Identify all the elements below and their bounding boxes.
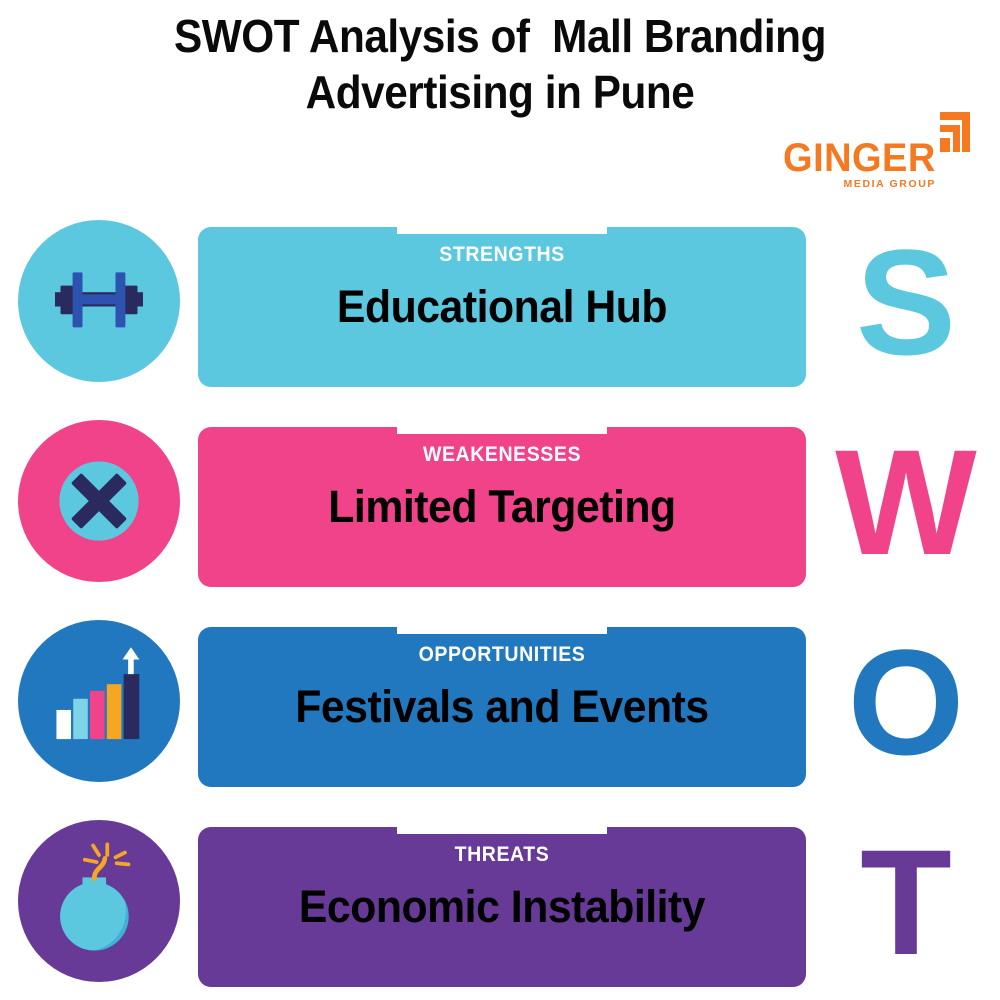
swot-row-strengths: STRENGTHS Educational Hub S [0, 212, 1000, 392]
swot-kicker-opportunities: OPPORTUNITIES [219, 643, 784, 667]
page-title-line-1: SWOT Analysis of Mall Branding [40, 8, 960, 64]
swot-letter-w: W [826, 412, 986, 592]
swot-kicker-weakenesses: WEAKENESSES [219, 443, 784, 467]
swot-row-weakenesses: WEAKENESSES Limited Targeting W [0, 412, 1000, 592]
logo-subtitle: MEDIA GROUP [844, 178, 936, 190]
swot-icon-badge-weakenesses [18, 420, 180, 582]
growth-bar-chart-icon [43, 645, 155, 757]
swot-row-opportunities: OPPORTUNITIES Festivals and Events O [0, 612, 1000, 792]
swot-title-strengths: Educational Hub [213, 279, 791, 335]
cross-circle-icon [39, 441, 159, 561]
swot-bar-strengths: STRENGTHS Educational Hub [198, 227, 806, 387]
swot-letter-t: T [826, 812, 986, 992]
swot-bar-threats: THREATS Economic Instability [198, 827, 806, 987]
dumbbell-icon [44, 246, 154, 356]
swot-title-opportunities: Festivals and Events [213, 679, 791, 735]
ginger-media-group-logo: GINGER MEDIA GROUP [790, 112, 970, 192]
swot-letter-s: S [826, 212, 986, 392]
swot-icon-badge-opportunities [18, 620, 180, 782]
kicker-underline [397, 427, 607, 434]
kicker-underline [397, 627, 607, 634]
swot-icon-badge-strengths [18, 220, 180, 382]
swot-title-weakenesses: Limited Targeting [213, 479, 791, 535]
kicker-underline [397, 827, 607, 834]
swot-letter-o: O [826, 612, 986, 792]
swot-title-threats: Economic Instability [213, 879, 791, 935]
swot-kicker-strengths: STRENGTHS [219, 243, 784, 267]
swot-kicker-threats: THREATS [219, 843, 784, 867]
swot-icon-badge-threats [18, 820, 180, 982]
swot-bar-weakenesses: WEAKENESSES Limited Targeting [198, 427, 806, 587]
bomb-icon [40, 842, 158, 960]
page-title: SWOT Analysis of Mall Branding Advertisi… [0, 8, 1000, 120]
swot-row-threats: THREATS Economic Instability T [0, 812, 1000, 992]
logo-wordmark: GINGER [783, 138, 936, 178]
kicker-underline [397, 227, 607, 234]
swot-bar-opportunities: OPPORTUNITIES Festivals and Events [198, 627, 806, 787]
